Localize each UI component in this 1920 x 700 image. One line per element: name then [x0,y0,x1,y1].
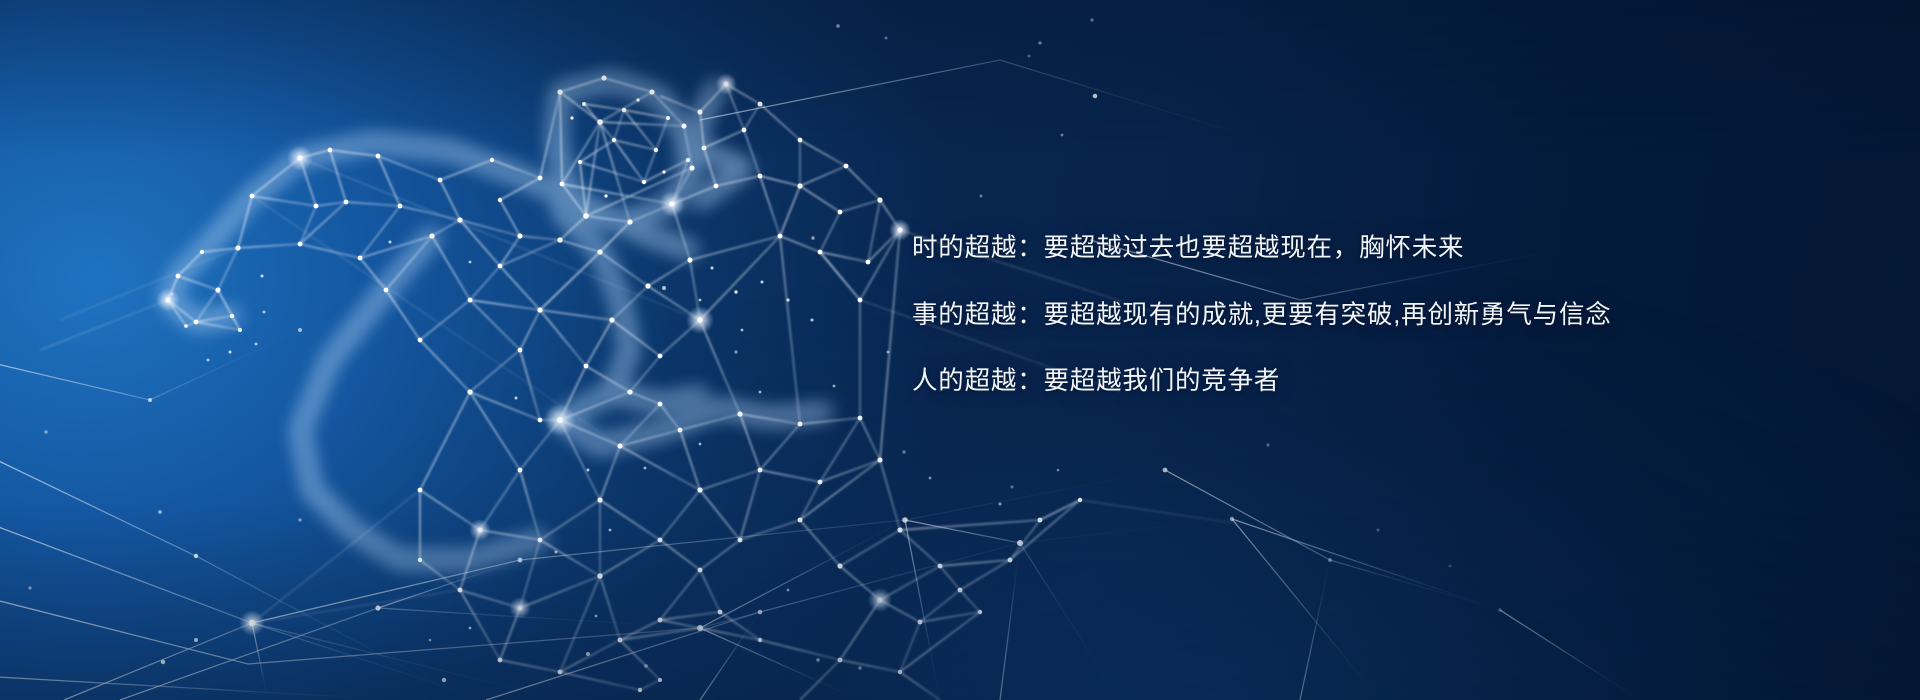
tagline-time: 时的超越：要超越过去也要超越现在，胸怀未来 [912,236,1672,262]
tagline-people: 人的超越：要超越我们的竞争者 [912,369,1672,395]
banner-hero: 时的超越：要超越过去也要超越现在，胸怀未来 事的超越：要超越现有的成就,更要有突… [0,0,1920,700]
tagline-matter: 事的超越：要超越现有的成就,更要有突破,再创新勇气与信念 [912,303,1672,329]
tagline-group: 时的超越：要超越过去也要超越现在，胸怀未来 事的超越：要超越现有的成就,更要有突… [912,236,1672,395]
